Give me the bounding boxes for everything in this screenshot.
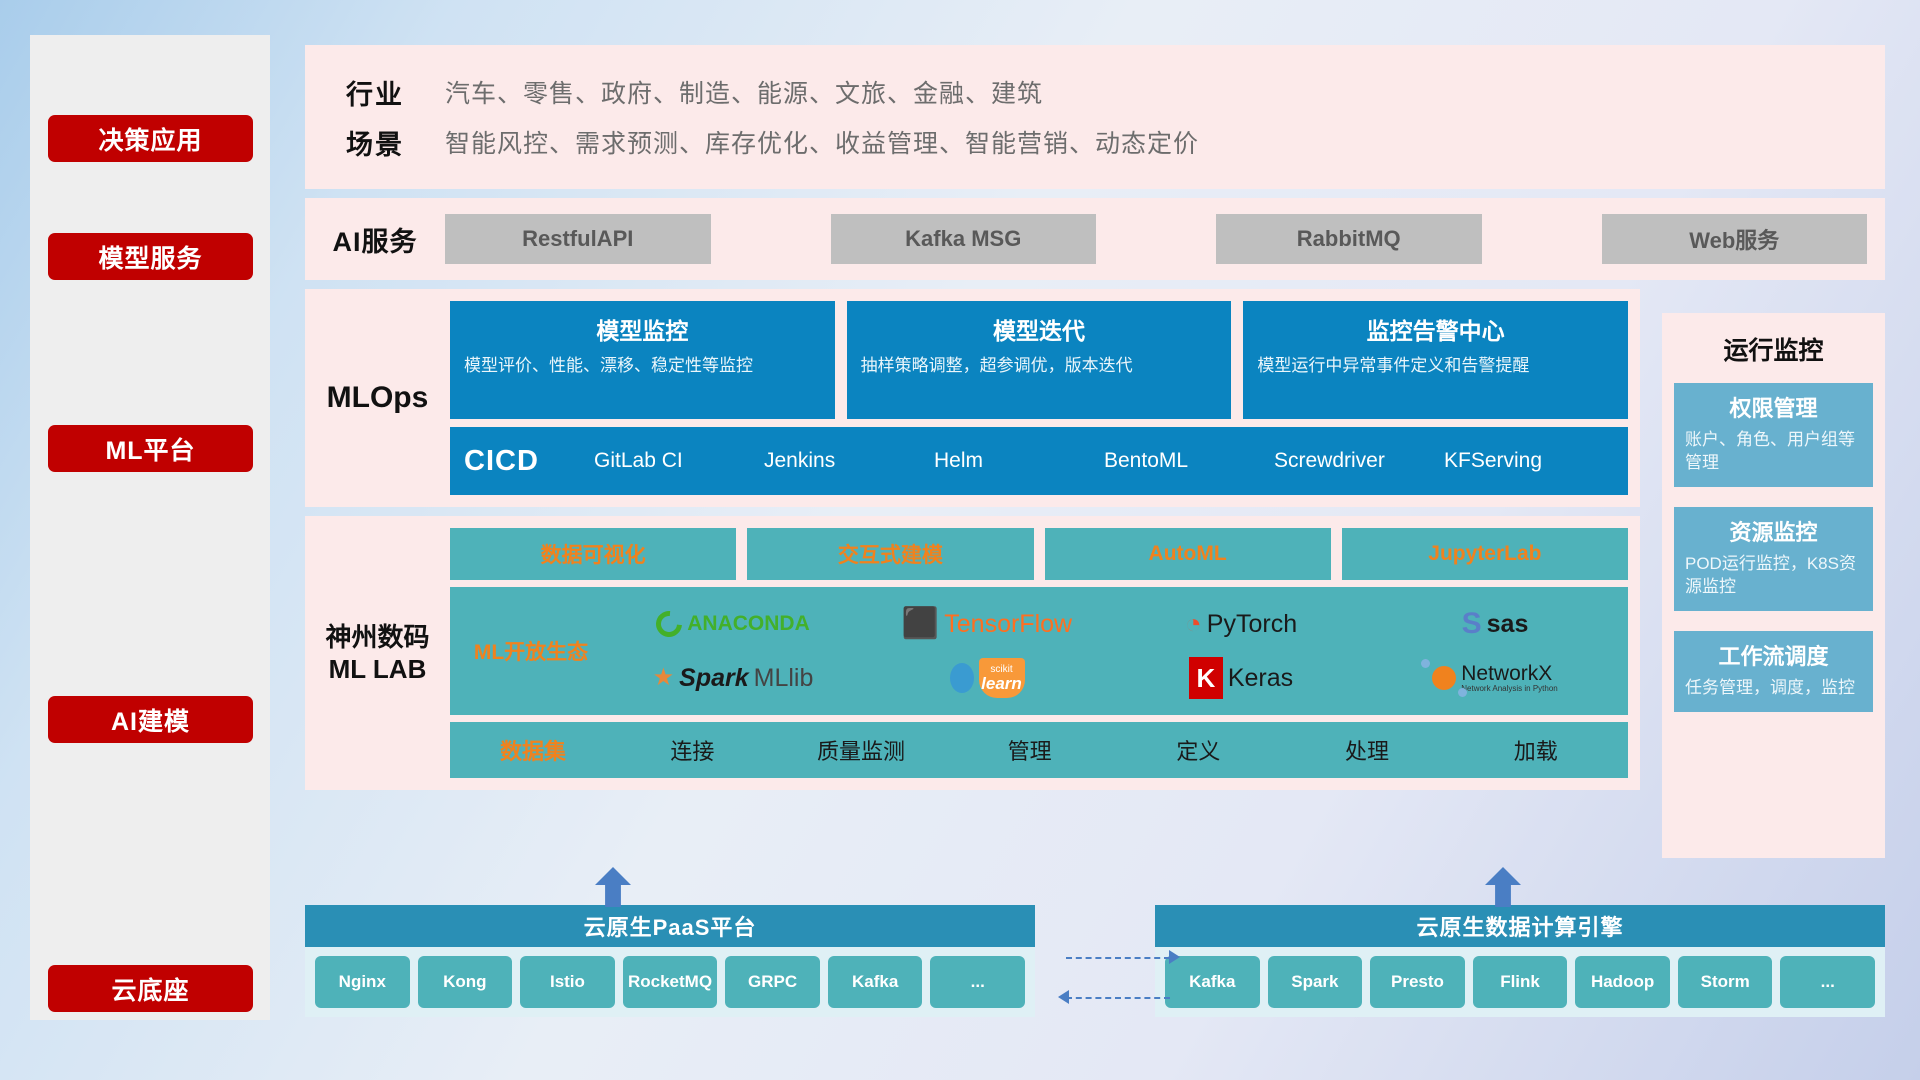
scikit-learn-logo[interactable]: scikit learn bbox=[860, 658, 1114, 698]
card-desc: 模型运行中异常事件定义和告警提醒 bbox=[1257, 355, 1614, 378]
tool-automl[interactable]: AutoML bbox=[1045, 528, 1331, 580]
ai-service-items: RestfulAPI Kafka MSG RabbitMQ Web服务 bbox=[445, 214, 1885, 264]
dataset-item-processing[interactable]: 处理 bbox=[1283, 734, 1452, 766]
ai-service-rabbitmq[interactable]: RabbitMQ bbox=[1216, 214, 1482, 264]
card-title: 模型迭代 bbox=[861, 312, 1218, 346]
cloud-paas-group: 云原生PaaS平台 Nginx Kong Istio RocketMQ GRPC… bbox=[305, 905, 1035, 1055]
ml-lab-label-line2: ML LAB bbox=[329, 653, 427, 686]
card-desc: 账户、角色、用户组等管理 bbox=[1685, 429, 1862, 475]
card-title: 工作流调度 bbox=[1685, 639, 1862, 671]
mlops-card-model-monitoring[interactable]: 模型监控 模型评价、性能、漂移、稳定性等监控 bbox=[450, 301, 835, 419]
rail-item-label: 决策应用 bbox=[98, 121, 202, 157]
dataset-item-management[interactable]: 管理 bbox=[945, 734, 1114, 766]
monitor-card-permission[interactable]: 权限管理 账户、角色、用户组等管理 bbox=[1674, 383, 1873, 487]
dataset-items: 连接 质量监测 管理 定义 处理 加载 bbox=[608, 734, 1620, 766]
paas-chip-nginx[interactable]: Nginx bbox=[315, 956, 410, 1008]
ecosystem-label: ML开放生态 bbox=[456, 636, 606, 666]
ml-lab-tools: 数据可视化 交互式建模 AutoML JupyterLab bbox=[450, 528, 1628, 580]
sas-wordmark: sas bbox=[1487, 610, 1529, 639]
scikit-blob-icon bbox=[950, 663, 974, 693]
main-column: 行业 汽车、零售、政府、制造、能源、文旅、金融、建筑 场景 智能风控、需求预测、… bbox=[305, 45, 1885, 799]
cicd-title: CICD bbox=[464, 445, 594, 478]
sas-s-icon: S bbox=[1462, 609, 1482, 639]
industry-scenario-band: 行业 汽车、零售、政府、制造、能源、文旅、金融、建筑 场景 智能风控、需求预测、… bbox=[305, 45, 1885, 189]
engine-chip-storm[interactable]: Storm bbox=[1678, 956, 1773, 1008]
mlops-content: 模型监控 模型评价、性能、漂移、稳定性等监控 模型迭代 抽样策略调整，超参调优，… bbox=[450, 301, 1640, 495]
mlops-band: MLOps 模型监控 模型评价、性能、漂移、稳定性等监控 模型迭代 抽样策略调整… bbox=[305, 289, 1640, 507]
cicd-item-bentoml[interactable]: BentoML bbox=[1104, 447, 1274, 475]
tool-label: 交互式建模 bbox=[838, 539, 943, 569]
ecosystem-logo-row-2: ★ Spark MLlib scikit learn K bbox=[606, 651, 1622, 705]
card-desc: 抽样策略调整，超参调优，版本迭代 bbox=[861, 355, 1218, 378]
industry-row: 行业 汽车、零售、政府、制造、能源、文旅、金融、建筑 bbox=[305, 67, 1885, 117]
ai-service-item-label: RestfulAPI bbox=[522, 226, 633, 252]
scenario-row: 场景 智能风控、需求预测、库存优化、收益管理、智能营销、动态定价 bbox=[305, 117, 1885, 167]
paas-chip-more[interactable]: ... bbox=[930, 956, 1025, 1008]
arrow-head-left-icon bbox=[1058, 990, 1069, 1004]
runtime-monitoring-title: 运行监控 bbox=[1674, 331, 1873, 367]
up-arrow-icon-paas bbox=[595, 867, 631, 907]
dataset-item-loading[interactable]: 加载 bbox=[1451, 734, 1620, 766]
up-arrow-icon-engine bbox=[1485, 867, 1521, 907]
networkx-tagline: Network Analysis in Python bbox=[1461, 685, 1558, 693]
paas-chips: Nginx Kong Istio RocketMQ GRPC Kafka ... bbox=[305, 947, 1035, 1017]
card-title: 权限管理 bbox=[1685, 391, 1862, 423]
mlops-label: MLOps bbox=[305, 301, 450, 495]
tool-interactive-modeling[interactable]: 交互式建模 bbox=[747, 528, 1033, 580]
ai-service-item-label: Kafka MSG bbox=[905, 226, 1021, 252]
ai-service-label: AI服务 bbox=[305, 220, 445, 259]
mlops-card-alert-center[interactable]: 监控告警中心 模型运行中异常事件定义和告警提醒 bbox=[1243, 301, 1628, 419]
mlops-card-model-iteration[interactable]: 模型迭代 抽样策略调整，超参调优，版本迭代 bbox=[847, 301, 1232, 419]
paas-chip-rocketmq[interactable]: RocketMQ bbox=[623, 956, 718, 1008]
engine-chip-flink[interactable]: Flink bbox=[1473, 956, 1568, 1008]
spark-mllib-logo[interactable]: ★ Spark MLlib bbox=[606, 664, 860, 693]
spark-star-icon: ★ bbox=[653, 666, 675, 690]
rail-item-ml-platform[interactable]: ML平台 bbox=[48, 425, 253, 472]
ecosystem-logos: ANACONDA ⬛ TensorFlow ◔ PyTorch S sas bbox=[606, 597, 1622, 705]
engine-chip-presto[interactable]: Presto bbox=[1370, 956, 1465, 1008]
dataset-item-quality-monitoring[interactable]: 质量监测 bbox=[777, 734, 946, 766]
arrow-head-right-icon bbox=[1169, 950, 1180, 964]
cicd-items: GitLab CI Jenkins Helm BentoML Screwdriv… bbox=[594, 447, 1614, 475]
ecosystem-logo-row-1: ANACONDA ⬛ TensorFlow ◔ PyTorch S sas bbox=[606, 597, 1622, 651]
rail-item-label: 云底座 bbox=[111, 971, 189, 1007]
rail-item-label: ML平台 bbox=[105, 431, 195, 467]
learn-word: learn bbox=[981, 675, 1022, 692]
ml-lab-label-line1: 神州数码 bbox=[325, 621, 429, 654]
paas-chip-kafka[interactable]: Kafka bbox=[828, 956, 923, 1008]
industry-label: 行业 bbox=[305, 73, 445, 112]
scenario-label: 场景 bbox=[305, 123, 445, 162]
ai-service-restfulapi[interactable]: RestfulAPI bbox=[445, 214, 711, 264]
anaconda-wordmark: ANACONDA bbox=[687, 612, 810, 636]
rail-item-cloud-base[interactable]: 云底座 bbox=[48, 965, 253, 1012]
dashed-line-left bbox=[1066, 997, 1170, 999]
dataset-item-connect[interactable]: 连接 bbox=[608, 734, 777, 766]
cicd-bar: CICD GitLab CI Jenkins Helm BentoML Scre… bbox=[450, 427, 1628, 495]
cicd-item-kfserving[interactable]: KFServing bbox=[1444, 447, 1614, 475]
ai-service-item-label: Web服务 bbox=[1689, 223, 1779, 255]
mlops-cards: 模型监控 模型评价、性能、漂移、稳定性等监控 模型迭代 抽样策略调整，超参调优，… bbox=[450, 301, 1628, 419]
ml-open-ecosystem: ML开放生态 ANACONDA ⬛ TensorFlow ◔ bbox=[450, 587, 1628, 715]
card-desc: POD运行监控，K8S资源监控 bbox=[1685, 553, 1862, 599]
keras-wordmark: Keras bbox=[1228, 664, 1293, 693]
sas-logo[interactable]: S sas bbox=[1368, 609, 1622, 639]
runtime-monitoring-column: 运行监控 权限管理 账户、角色、用户组等管理 资源监控 POD运行监控，K8S资… bbox=[1662, 313, 1885, 858]
engine-chip-spark[interactable]: Spark bbox=[1268, 956, 1363, 1008]
anaconda-logo[interactable]: ANACONDA bbox=[606, 611, 860, 637]
spark-wordmark: Spark bbox=[679, 664, 748, 693]
monitor-card-workflow[interactable]: 工作流调度 任务管理，调度，监控 bbox=[1674, 631, 1873, 712]
card-desc: 模型评价、性能、漂移、稳定性等监控 bbox=[464, 355, 821, 378]
ai-service-band: AI服务 RestfulAPI Kafka MSG RabbitMQ Web服务 bbox=[305, 198, 1885, 280]
tensorflow-logo[interactable]: ⬛ TensorFlow bbox=[860, 609, 1114, 639]
rail-item-decision-app[interactable]: 决策应用 bbox=[48, 115, 253, 162]
engine-chip-more[interactable]: ... bbox=[1780, 956, 1875, 1008]
networkx-wordmark: NetworkX bbox=[1461, 663, 1558, 685]
pytorch-logo[interactable]: ◔ PyTorch bbox=[1114, 610, 1368, 639]
mllib-wordmark: MLlib bbox=[754, 664, 814, 693]
tool-label: 数据可视化 bbox=[541, 539, 646, 569]
rail-item-model-service[interactable]: 模型服务 bbox=[48, 233, 253, 280]
ai-service-web[interactable]: Web服务 bbox=[1602, 214, 1868, 264]
monitor-card-resource[interactable]: 资源监控 POD运行监控，K8S资源监控 bbox=[1674, 507, 1873, 611]
rail-item-label: 模型服务 bbox=[98, 239, 202, 275]
paas-header: 云原生PaaS平台 bbox=[305, 905, 1035, 947]
networkx-logo[interactable]: NetworkX Network Analysis in Python bbox=[1368, 663, 1622, 693]
dataset-item-definition[interactable]: 定义 bbox=[1114, 734, 1283, 766]
tensorflow-wordmark: TensorFlow bbox=[944, 610, 1072, 639]
keras-k-icon: K bbox=[1189, 657, 1223, 699]
tool-data-visualization[interactable]: 数据可视化 bbox=[450, 528, 736, 580]
scikit-learn-badge: scikit learn bbox=[979, 658, 1025, 698]
scikit-word: scikit bbox=[990, 665, 1012, 675]
dataset-title: 数据集 bbox=[458, 734, 608, 766]
cicd-item-helm[interactable]: Helm bbox=[934, 447, 1104, 475]
ai-service-item-label: RabbitMQ bbox=[1297, 226, 1401, 252]
pytorch-wordmark: PyTorch bbox=[1207, 610, 1297, 639]
rail-item-label: AI建模 bbox=[111, 702, 190, 738]
ai-service-kafka-msg[interactable]: Kafka MSG bbox=[831, 214, 1097, 264]
keras-logo[interactable]: K Keras bbox=[1114, 657, 1368, 699]
ml-lab-band: 神州数码 ML LAB 数据可视化 交互式建模 AutoML JupyterLa… bbox=[305, 516, 1640, 790]
paas-chip-kong[interactable]: Kong bbox=[418, 956, 513, 1008]
cicd-item-jenkins[interactable]: Jenkins bbox=[764, 447, 934, 475]
cicd-item-gitlab-ci[interactable]: GitLab CI bbox=[594, 447, 764, 475]
cloud-engine-group: 云原生数据计算引擎 Kafka Spark Presto Flink Hadoo… bbox=[1155, 905, 1885, 1055]
engine-chips: Kafka Spark Presto Flink Hadoop Storm ..… bbox=[1155, 947, 1885, 1017]
dashed-line-right bbox=[1066, 957, 1170, 959]
engine-chip-hadoop[interactable]: Hadoop bbox=[1575, 956, 1670, 1008]
rail-item-ai-modeling[interactable]: AI建模 bbox=[48, 696, 253, 743]
bidirectional-link-arrows bbox=[1060, 945, 1178, 1015]
engine-header: 云原生数据计算引擎 bbox=[1155, 905, 1885, 947]
industry-value: 汽车、零售、政府、制造、能源、文旅、金融、建筑 bbox=[445, 74, 1043, 110]
anaconda-ring-icon bbox=[651, 606, 688, 643]
networkx-graph-icon bbox=[1432, 666, 1456, 690]
card-desc: 任务管理，调度，监控 bbox=[1685, 677, 1862, 700]
tensorflow-mark-icon: ⬛ bbox=[902, 609, 939, 639]
tool-label: JupyterLab bbox=[1428, 542, 1541, 566]
paas-chip-istio[interactable]: Istio bbox=[520, 956, 615, 1008]
ml-lab-label: 神州数码 ML LAB bbox=[305, 528, 450, 778]
dataset-bar: 数据集 连接 质量监测 管理 定义 处理 加载 bbox=[450, 722, 1628, 778]
card-title: 模型监控 bbox=[464, 312, 821, 346]
pytorch-flame-icon: ◔ bbox=[1185, 610, 1202, 638]
card-title: 监控告警中心 bbox=[1257, 312, 1614, 346]
scenario-value: 智能风控、需求预测、库存优化、收益管理、智能营销、动态定价 bbox=[445, 124, 1199, 160]
paas-chip-grpc[interactable]: GRPC bbox=[725, 956, 820, 1008]
ml-lab-content: 数据可视化 交互式建模 AutoML JupyterLab ML开放生态 bbox=[450, 528, 1640, 778]
tool-jupyterlab[interactable]: JupyterLab bbox=[1342, 528, 1628, 580]
cicd-item-screwdriver[interactable]: Screwdriver bbox=[1274, 447, 1444, 475]
card-title: 资源监控 bbox=[1685, 515, 1862, 547]
left-rail: 决策应用 模型服务 ML平台 AI建模 云底座 bbox=[30, 35, 270, 1020]
tool-label: AutoML bbox=[1149, 542, 1227, 566]
